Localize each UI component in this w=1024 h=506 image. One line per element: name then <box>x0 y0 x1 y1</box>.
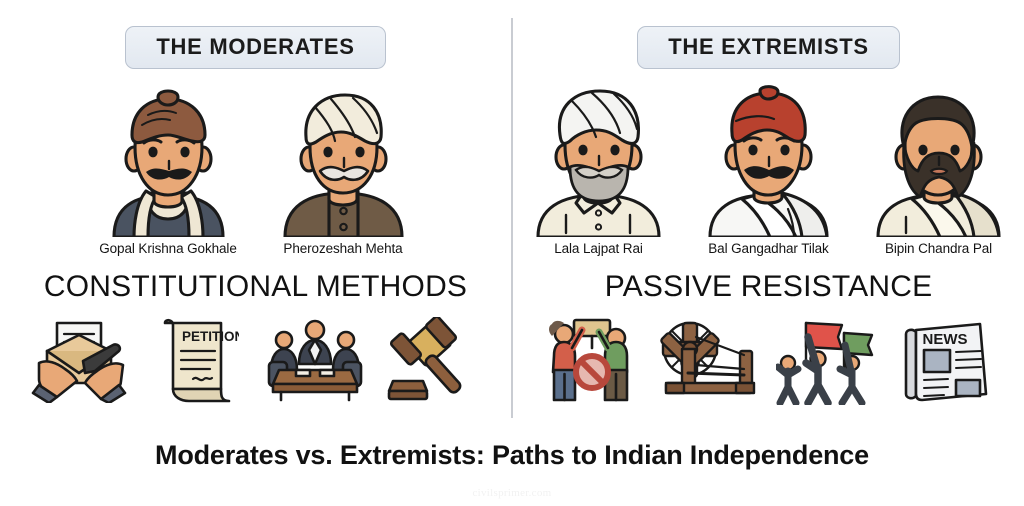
gavel-icon <box>381 314 485 406</box>
person-name: Lala Lajpat Rai <box>554 241 643 256</box>
portrait-gokhale-icon <box>96 85 241 237</box>
infographic-root: THE MODERATES <box>0 0 1024 506</box>
badge-moderates: THE MODERATES <box>125 26 385 69</box>
icon-row-moderates: PETITION <box>27 314 485 406</box>
portrait-row-extremists: Lala Lajpat Rai <box>523 85 1015 256</box>
person-tilak: Bal Gangadhar Tilak <box>693 85 845 256</box>
method-label-extremists: PASSIVE RESISTANCE <box>605 270 933 304</box>
person-mehta: Pherozeshah Mehta <box>271 85 416 256</box>
rally-march-icon <box>776 314 880 406</box>
boycott-protest-icon <box>540 314 644 406</box>
column-moderates: THE MODERATES <box>0 0 511 425</box>
news-label: NEWS <box>922 331 967 348</box>
meeting-table-icon <box>263 314 367 406</box>
portrait-row-moderates: Gopal Krishna Gokhale <box>96 85 416 256</box>
portrait-lajpat-rai-icon <box>526 85 671 237</box>
person-bipin-pal: Bipin Chandra Pal <box>863 85 1015 256</box>
page-title: Moderates vs. Extremists: Paths to India… <box>0 440 1024 471</box>
portrait-tilak-icon <box>696 85 841 237</box>
person-name: Gopal Krishna Gokhale <box>99 241 236 256</box>
letter-writing-icon <box>27 314 131 406</box>
person-lajpat-rai: Lala Lajpat Rai <box>523 85 675 256</box>
newspaper-icon: NEWS <box>894 314 998 406</box>
portrait-bipin-pal-icon <box>866 85 1011 237</box>
column-extremists: THE EXTREMISTS <box>513 0 1024 425</box>
portrait-mehta-icon <box>271 85 416 237</box>
person-name: Bal Gangadhar Tilak <box>708 241 828 256</box>
method-label-moderates: CONSTITUTIONAL METHODS <box>44 270 467 304</box>
petition-label: PETITION <box>182 329 239 344</box>
badge-extremists: THE EXTREMISTS <box>637 26 900 69</box>
watermark: civilsprimer.com <box>0 487 1024 499</box>
petition-scroll-icon: PETITION <box>145 314 249 406</box>
spinning-wheel-icon <box>658 314 762 406</box>
person-name: Pherozeshah Mehta <box>283 241 402 256</box>
person-name: Bipin Chandra Pal <box>885 241 992 256</box>
person-gokhale: Gopal Krishna Gokhale <box>96 85 241 256</box>
icon-row-extremists: NEWS <box>540 314 998 406</box>
